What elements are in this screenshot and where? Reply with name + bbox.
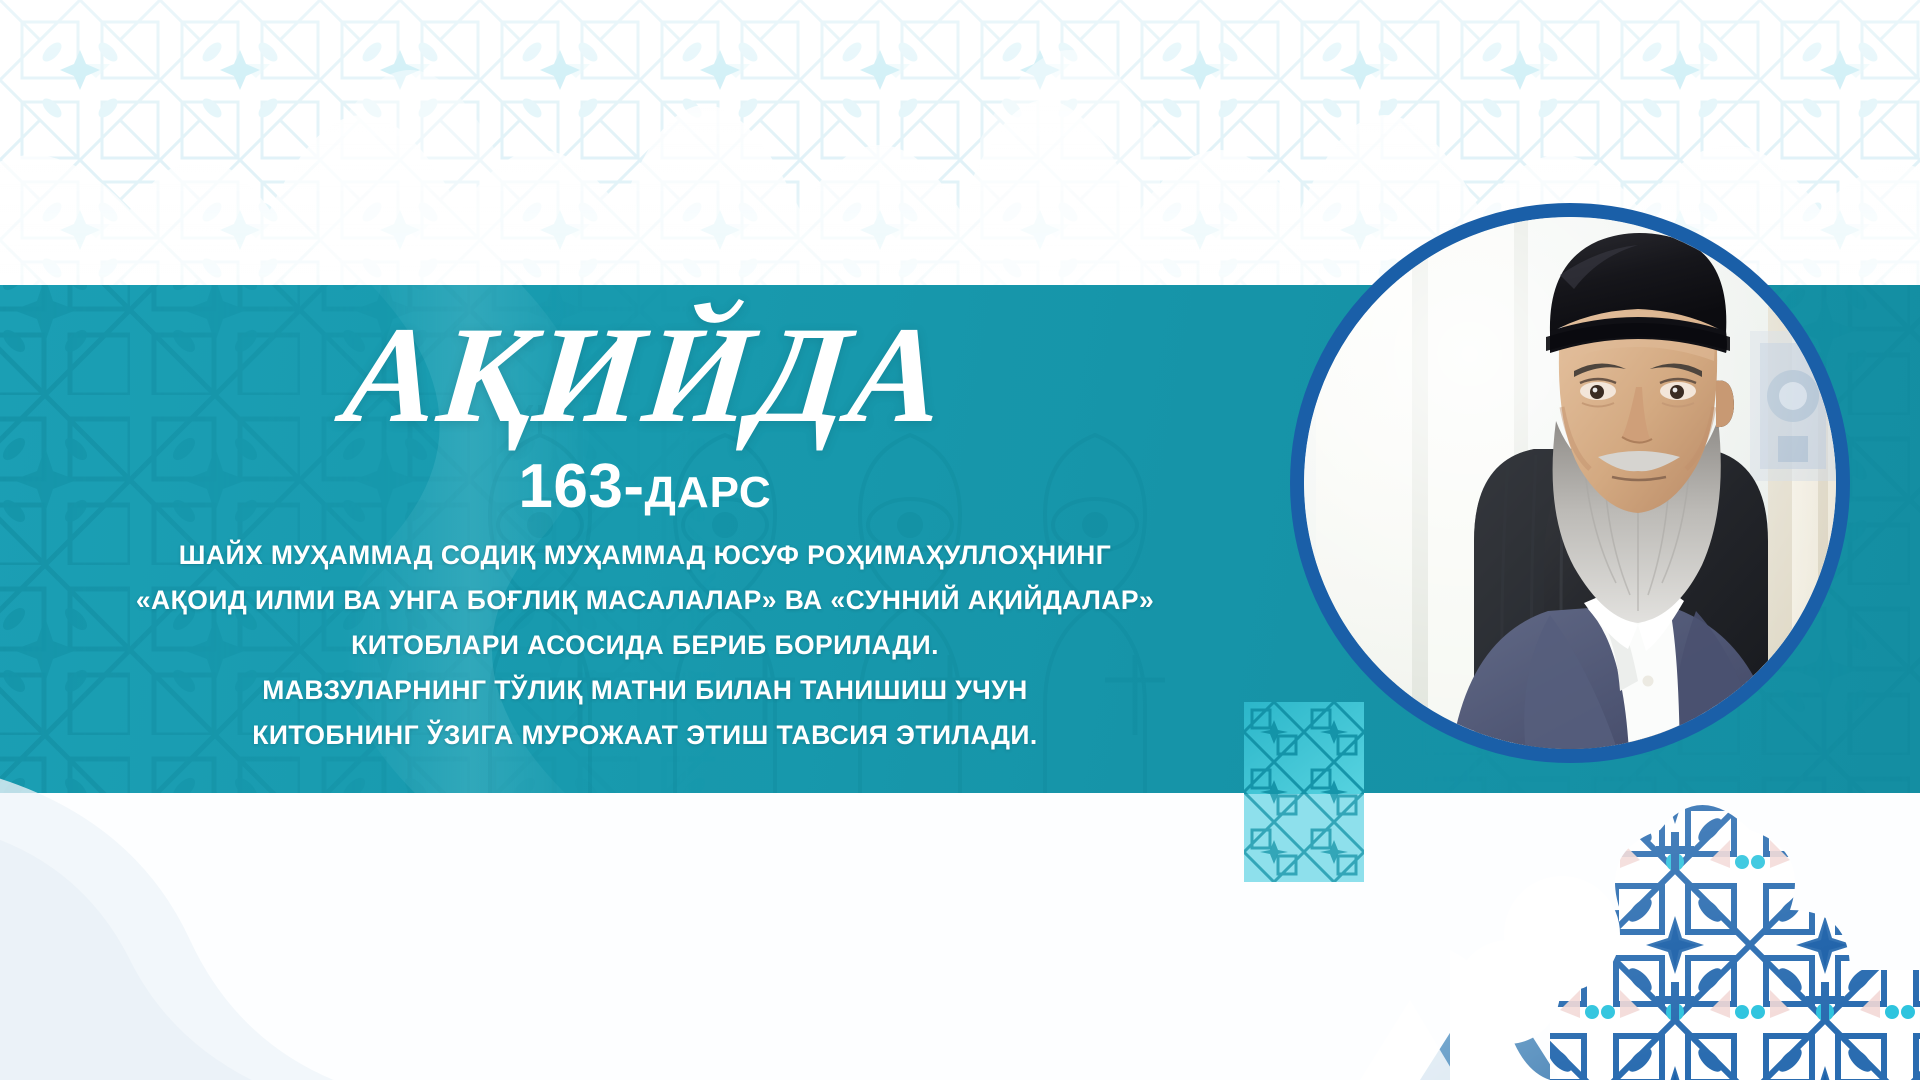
scholar-portrait [1304, 217, 1836, 749]
portrait-clip [1304, 217, 1836, 749]
band-ribbon-highlight [300, 285, 630, 793]
ornament-bottom-right [1450, 720, 1920, 1080]
portrait-container [1290, 203, 1850, 763]
portrait-ring [1290, 203, 1850, 763]
background-shape-bottom-left [0, 770, 670, 1080]
aqida-lesson-banner: АҚИЙДА 163 - ДАРС ШАЙХ МУҲАММАД СОДИҚ МУ… [0, 0, 1920, 1080]
